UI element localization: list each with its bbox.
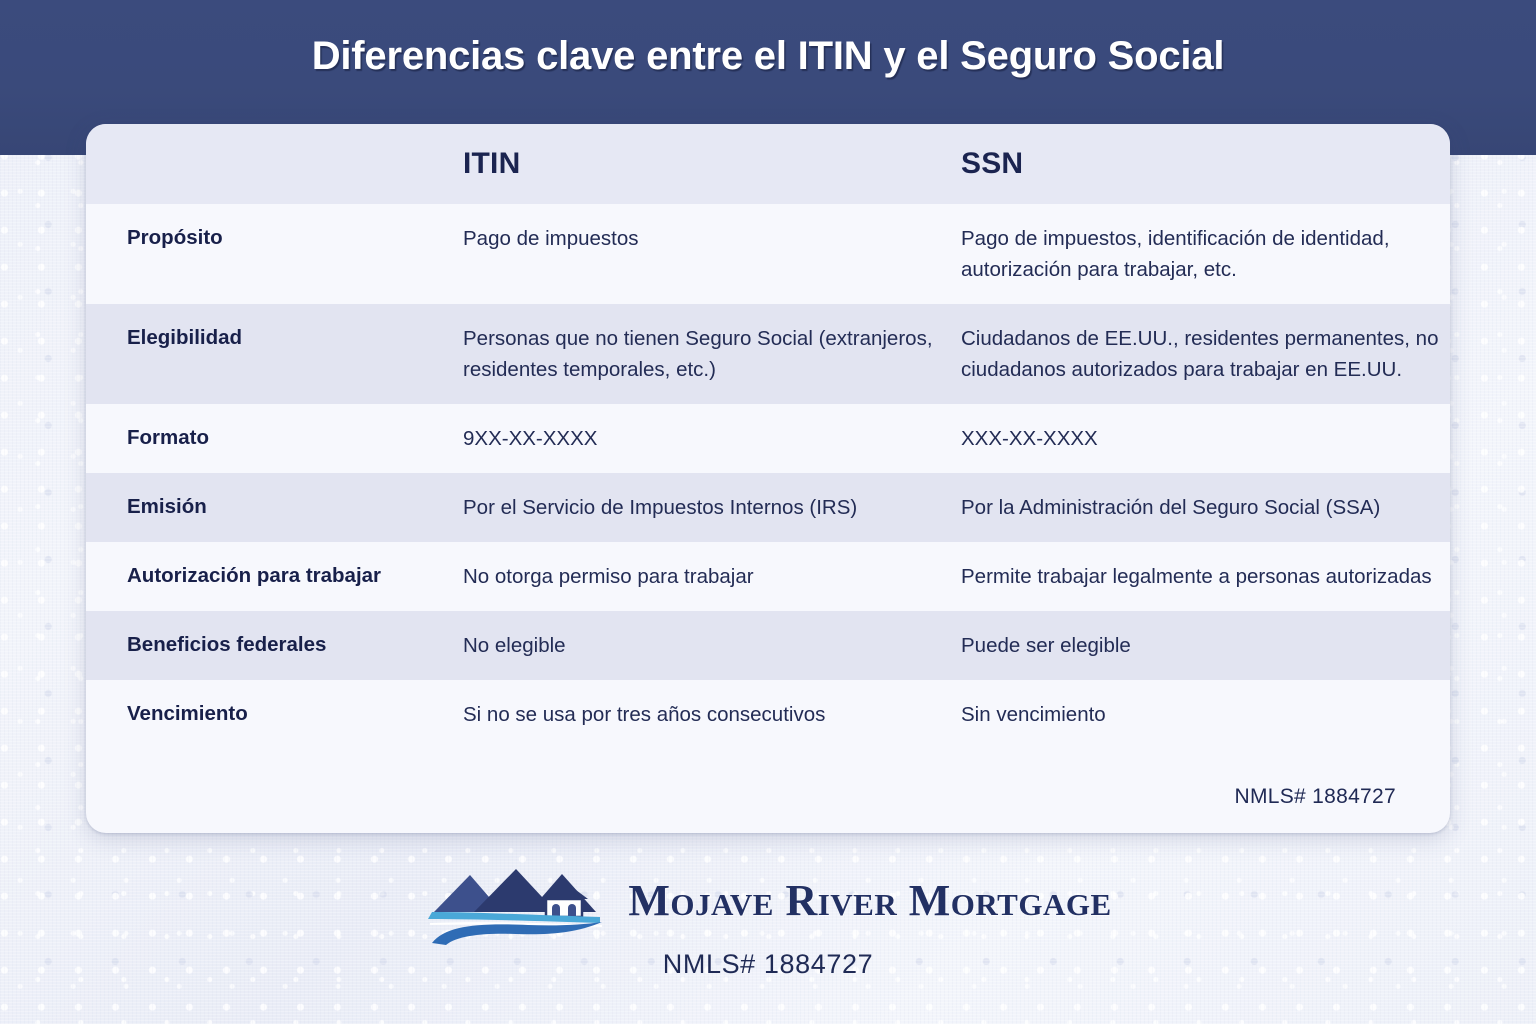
row-label: Formato	[86, 423, 461, 453]
row-label: Elegibilidad	[86, 323, 461, 353]
brand-name: Mojave River Mortgage	[628, 879, 1111, 923]
row-value-ssn: Puede ser elegible	[961, 630, 1450, 661]
row-label: Beneficios federales	[86, 630, 461, 660]
header-cell-itin: ITIN	[461, 147, 961, 181]
row-value-itin: No otorga permiso para trabajar	[461, 561, 961, 592]
row-value-itin: Pago de impuestos	[461, 223, 961, 254]
table-row: Propósito Pago de impuestos Pago de impu…	[86, 204, 1450, 304]
table-row: Elegibilidad Personas que no tienen Segu…	[86, 304, 1450, 404]
row-value-ssn: XXX-XX-XXXX	[961, 423, 1450, 454]
row-label: Propósito	[86, 223, 461, 253]
table-row: Emisión Por el Servicio de Impuestos Int…	[86, 473, 1450, 542]
table-row: Beneficios federales No elegible Puede s…	[86, 611, 1450, 680]
row-label: Autorización para trabajar	[86, 561, 461, 591]
row-value-ssn: Ciudadanos de EE.UU., residentes permane…	[961, 323, 1450, 385]
row-value-itin: No elegible	[461, 630, 961, 661]
page-title: Diferencias clave entre el ITIN y el Seg…	[0, 34, 1536, 79]
row-label: Emisión	[86, 492, 461, 522]
row-value-itin: Si no se usa por tres años consecutivos	[461, 699, 961, 730]
table-row: Formato 9XX-XX-XXXX XXX-XX-XXXX	[86, 404, 1450, 473]
row-value-itin: Personas que no tienen Seguro Social (ex…	[461, 323, 961, 385]
table-row: Vencimiento Si no se usa por tres años c…	[86, 680, 1450, 749]
header-cell-ssn: SSN	[961, 147, 1450, 181]
footer: Mojave River Mortgage NMLS# 1884727	[0, 855, 1536, 980]
card-nmls-text: NMLS# 1884727	[1234, 785, 1396, 809]
table-header-row: ITIN SSN	[86, 124, 1450, 204]
table-row: Autorización para trabajar No otorga per…	[86, 542, 1450, 611]
row-value-ssn: Pago de impuestos, identificación de ide…	[961, 223, 1450, 285]
row-value-itin: 9XX-XX-XXXX	[461, 423, 961, 454]
comparison-table-card: ITIN SSN Propósito Pago de impuestos Pag…	[86, 124, 1450, 833]
brand-logo: Mojave River Mortgage	[424, 855, 1111, 947]
row-value-itin: Por el Servicio de Impuestos Internos (I…	[461, 492, 961, 523]
row-label: Vencimiento	[86, 699, 461, 729]
row-value-ssn: Sin vencimiento	[961, 699, 1450, 730]
row-value-ssn: Por la Administración del Seguro Social …	[961, 492, 1450, 523]
row-value-ssn: Permite trabajar legalmente a personas a…	[961, 561, 1450, 592]
footer-nmls-text: NMLS# 1884727	[663, 949, 873, 980]
mojave-river-mountains-house-icon	[424, 855, 614, 947]
